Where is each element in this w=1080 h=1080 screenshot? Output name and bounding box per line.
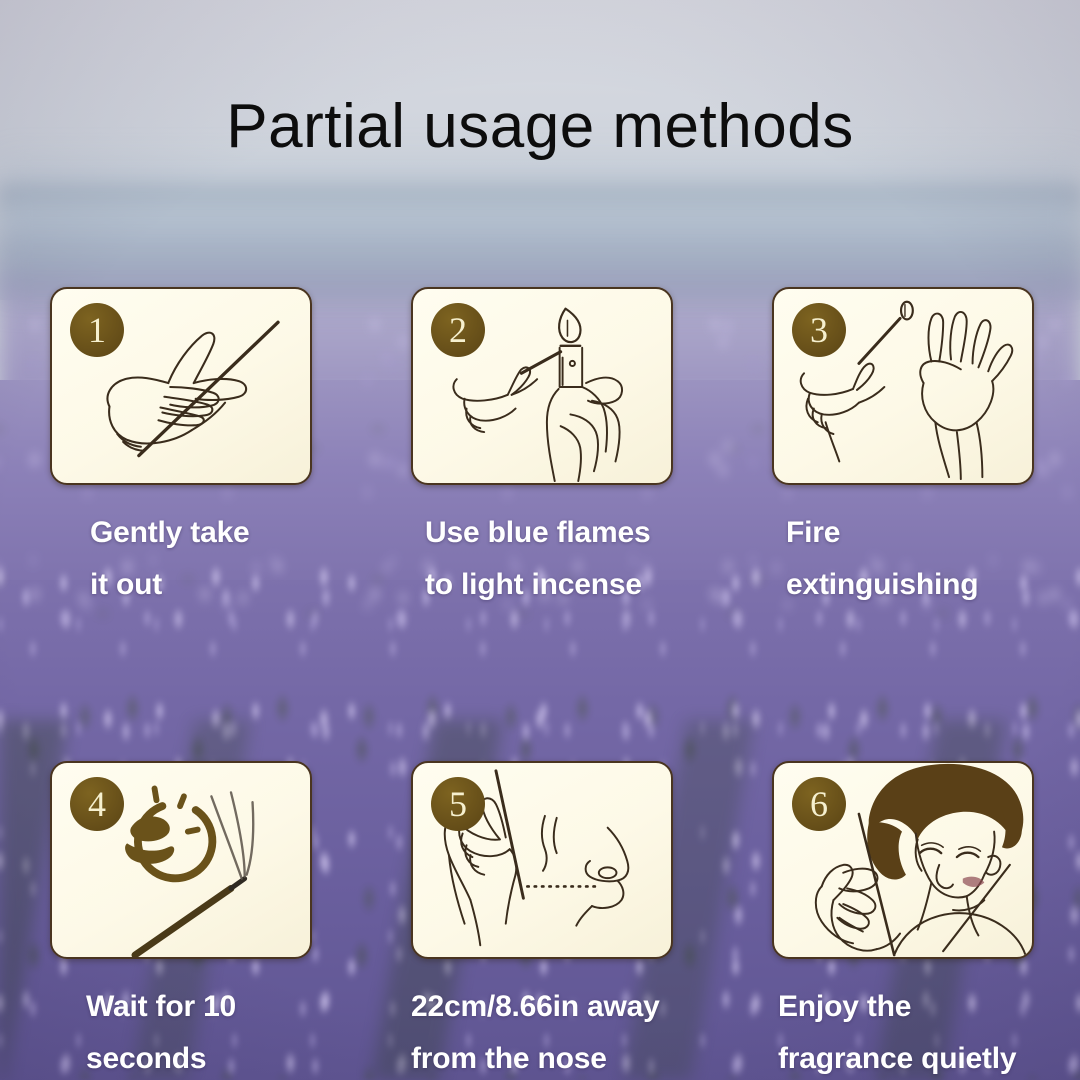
usage-steps-grid: 1 Gently take it out <box>50 287 1032 1080</box>
step-2-card: 2 <box>411 287 673 485</box>
step-5-card: 5 <box>411 761 673 959</box>
step-5-caption-line-1: 22cm/8.66in away <box>411 990 660 1023</box>
step-3-card: 3 <box>772 287 1034 485</box>
step-1-caption-line-1: Gently take <box>90 516 250 549</box>
step-6-caption-line-1: Enjoy the <box>778 990 911 1023</box>
step-2-caption: Use blue flames to light incense <box>411 507 673 611</box>
step-5-caption-line-2: from the nose <box>411 1033 673 1080</box>
step-3-caption: Fire extinguishing <box>772 507 1034 611</box>
step-3-caption-line-2: extinguishing <box>786 559 1034 611</box>
step-2-caption-line-2: to light incense <box>425 559 673 611</box>
step-4: 4 <box>50 761 312 1080</box>
step-1: 1 Gently take it out <box>50 287 312 611</box>
step-5-number-badge: 5 <box>431 777 485 831</box>
step-6: 6 <box>772 761 1034 1080</box>
step-1-number-badge: 1 <box>70 303 124 357</box>
step-4-number-badge: 4 <box>70 777 124 831</box>
step-4-caption-line-2: seconds <box>86 1033 312 1080</box>
step-5: 5 <box>411 761 673 1080</box>
step-3-caption-line-1: Fire <box>786 516 840 549</box>
step-6-number-badge: 6 <box>792 777 846 831</box>
step-4-card: 4 <box>50 761 312 959</box>
step-4-caption: Wait for 10 seconds <box>50 981 312 1080</box>
step-5-caption: 22cm/8.66in away from the nose <box>411 981 673 1080</box>
step-6-card: 6 <box>772 761 1034 959</box>
page-title: Partial usage methods <box>0 96 1080 158</box>
step-2-caption-line-1: Use blue flames <box>425 516 650 549</box>
step-4-caption-line-1: Wait for 10 <box>86 990 236 1023</box>
step-1-caption: Gently take it out <box>50 507 312 611</box>
step-3-number-badge: 3 <box>792 303 846 357</box>
step-2-number-badge: 2 <box>431 303 485 357</box>
step-1-card: 1 <box>50 287 312 485</box>
step-1-caption-line-2: it out <box>90 559 312 611</box>
step-3: 3 <box>772 287 1034 611</box>
step-6-caption: Enjoy the fragrance quietly <box>772 981 1034 1080</box>
step-2: 2 <box>411 287 673 611</box>
step-6-caption-line-2: fragrance quietly <box>778 1033 1034 1080</box>
